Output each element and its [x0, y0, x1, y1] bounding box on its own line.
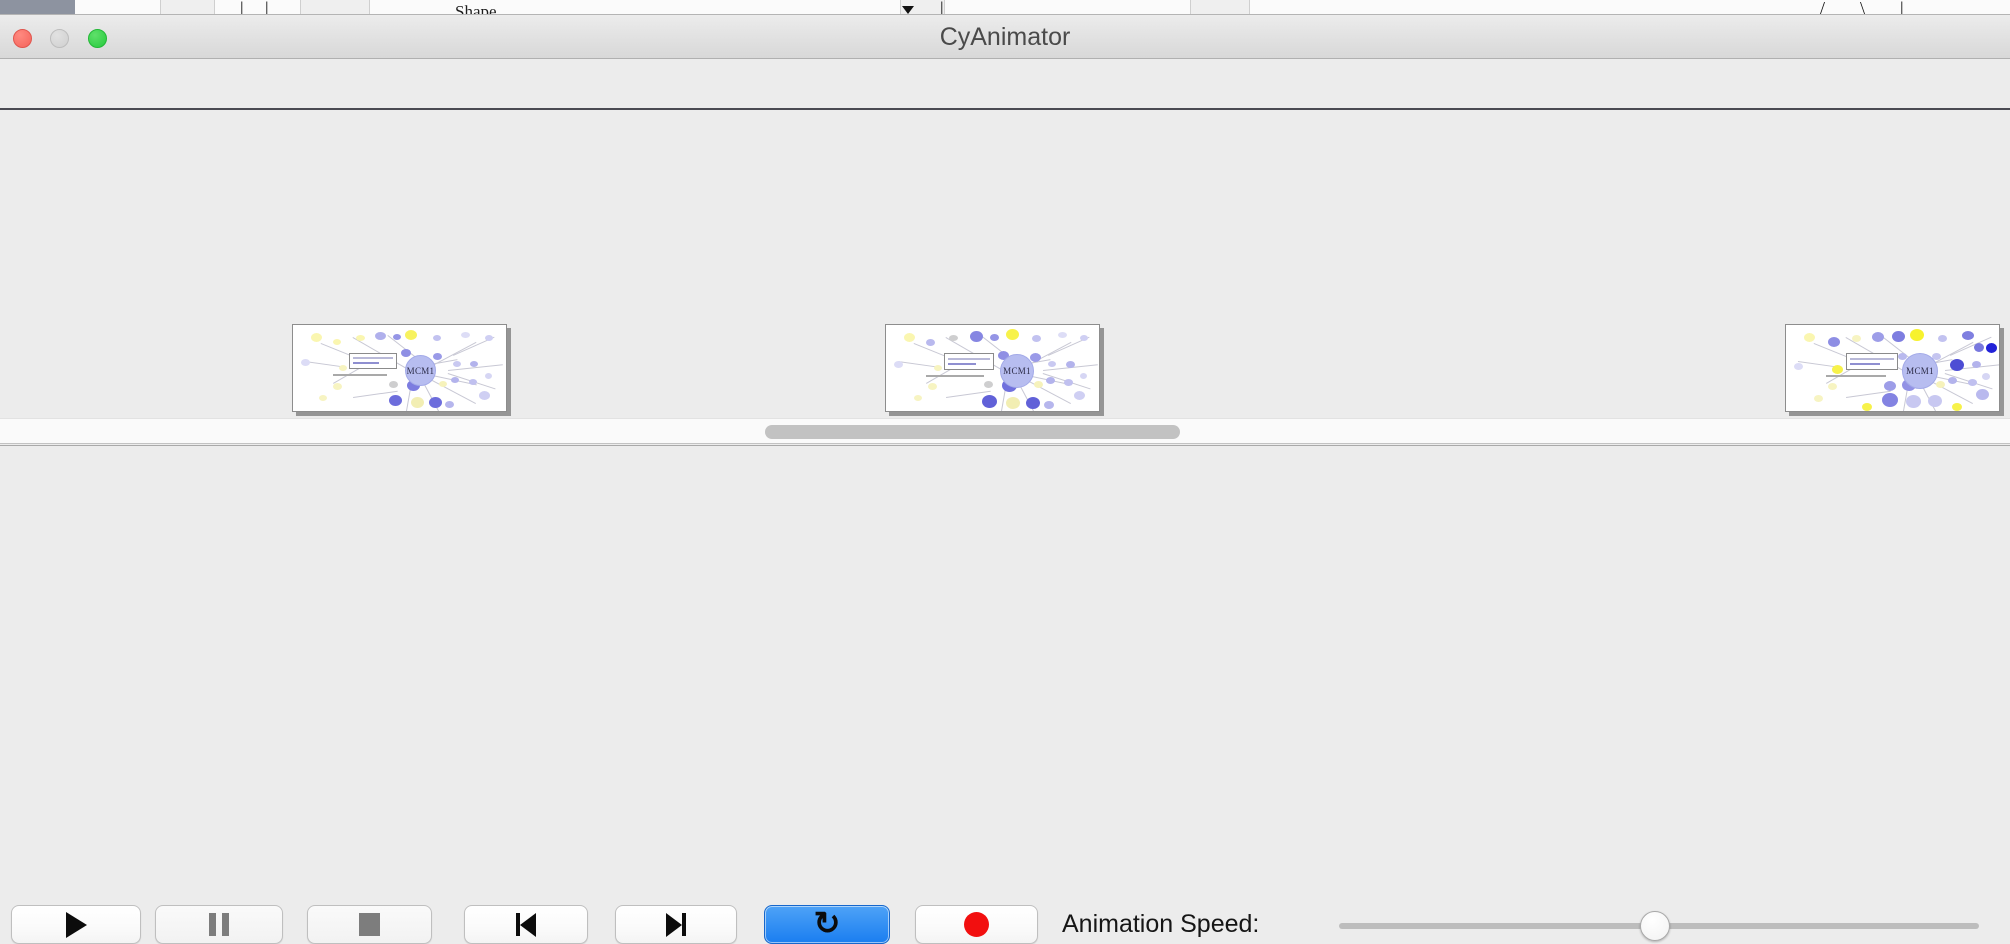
record-icon — [964, 912, 989, 937]
hub-node-label: MCM1 — [1000, 354, 1034, 388]
background-window-segment — [1190, 0, 1250, 15]
play-button[interactable] — [11, 905, 141, 944]
previous-frame-button[interactable] — [464, 905, 588, 944]
background-window-segment — [160, 0, 215, 15]
hub-node-label: MCM1 — [1902, 353, 1938, 389]
timeline-frame[interactable]: MCM1 — [1785, 324, 2000, 412]
hub-node-label: MCM1 — [405, 355, 436, 386]
timeline-horizontal-scrollbar[interactable] — [0, 418, 2010, 444]
playback-control-bar: ↻ Animation Speed: — [0, 445, 2010, 510]
scrollbar-thumb[interactable] — [765, 425, 1180, 439]
frame-thumbnail: MCM1 — [886, 325, 1099, 411]
background-window-strip: | | | / \ | Shape — [0, 0, 2010, 15]
frame-thumbnail: MCM1 — [293, 325, 506, 411]
timeline-frame[interactable]: MCM1 — [885, 324, 1100, 412]
background-window-label: Shape — [455, 2, 497, 15]
loop-icon: ↻ — [814, 907, 841, 939]
skip-back-icon — [516, 913, 536, 937]
loop-button[interactable]: ↻ — [764, 905, 890, 944]
skip-forward-icon — [666, 913, 686, 937]
play-icon — [66, 912, 87, 938]
next-frame-button[interactable] — [615, 905, 737, 944]
frame-thumbnail: MCM1 — [1786, 325, 1999, 411]
timeline-frame[interactable]: MCM1 — [292, 324, 507, 412]
timeline-panel[interactable]: MCM1 — [0, 112, 2010, 418]
stop-icon — [359, 913, 380, 936]
background-window-segment — [300, 0, 370, 15]
background-window-sidebar — [0, 0, 75, 15]
window-titlebar: CyAnimator — [0, 15, 2010, 59]
animation-speed-label: Animation Speed: — [1062, 905, 1259, 944]
pause-icon — [209, 913, 229, 936]
record-button[interactable] — [915, 905, 1038, 944]
window-title: CyAnimator — [0, 15, 2010, 59]
pause-button[interactable] — [155, 905, 283, 944]
background-window-caret-icon — [902, 6, 914, 14]
frames-toolbar: ✚ Clear All Frames — [0, 59, 2010, 110]
animation-speed-slider-knob[interactable] — [1640, 911, 1670, 941]
stop-button[interactable] — [307, 905, 432, 944]
